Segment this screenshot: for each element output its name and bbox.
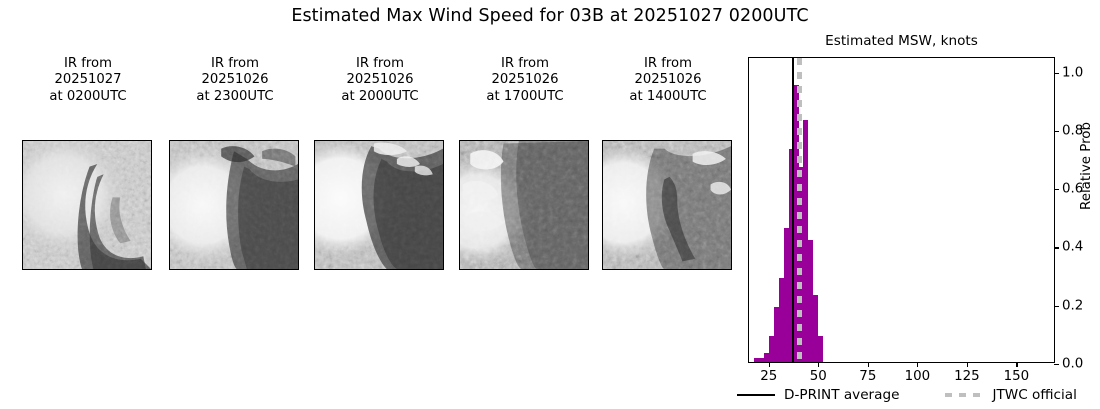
x-axis-tick bbox=[967, 362, 968, 367]
x-axis-tick-label: 100 bbox=[905, 369, 931, 384]
x-axis-tick-label: 50 bbox=[810, 369, 827, 384]
chart-legend: D-PRINT average JTWC official bbox=[737, 384, 1083, 406]
histogram-title: Estimated MSW, knots bbox=[748, 33, 1055, 49]
y-axis-tick bbox=[1054, 131, 1059, 132]
y-axis-tick bbox=[1054, 73, 1059, 74]
x-axis-tick bbox=[1016, 362, 1017, 367]
legend-item-jtwc-official: JTWC official bbox=[945, 387, 1076, 403]
y-axis-label: Relative Prob bbox=[1079, 122, 1094, 210]
y-axis-tick-label: 0.4 bbox=[1062, 240, 1083, 255]
y-axis-tick bbox=[1054, 306, 1059, 307]
x-axis-tick-label: 75 bbox=[859, 369, 876, 384]
reference-lines bbox=[749, 58, 1054, 362]
x-axis-tick-label: 150 bbox=[1004, 369, 1030, 384]
y-axis-tick-label: 0.2 bbox=[1062, 298, 1083, 313]
x-axis-tick bbox=[868, 362, 869, 367]
dashed-line-icon bbox=[945, 393, 983, 398]
y-axis-tick bbox=[1054, 189, 1059, 190]
x-axis-tick bbox=[818, 362, 819, 367]
x-axis-tick bbox=[917, 362, 918, 367]
msw-histogram-figure: Estimated MSW, knots 255075100125150 0.0… bbox=[0, 0, 1100, 409]
x-axis-tick-label: 125 bbox=[954, 369, 980, 384]
y-axis-tick bbox=[1054, 247, 1059, 248]
y-axis-tick-label: 0.0 bbox=[1062, 357, 1083, 372]
y-axis-tick-label: 1.0 bbox=[1062, 65, 1083, 80]
histogram-axes: 255075100125150 0.00.20.40.60.81.0 bbox=[748, 57, 1055, 363]
legend-label-jtwc: JTWC official bbox=[992, 387, 1076, 403]
y-axis-tick bbox=[1054, 364, 1059, 365]
legend-label-dprint: D-PRINT average bbox=[784, 387, 899, 403]
jtwc-official-line bbox=[797, 58, 801, 362]
solid-line-icon bbox=[737, 394, 775, 396]
legend-item-dprint-average: D-PRINT average bbox=[737, 387, 899, 403]
x-axis-tick-label: 25 bbox=[760, 369, 777, 384]
x-axis-tick bbox=[769, 362, 770, 367]
dprint-average-line bbox=[792, 58, 794, 362]
